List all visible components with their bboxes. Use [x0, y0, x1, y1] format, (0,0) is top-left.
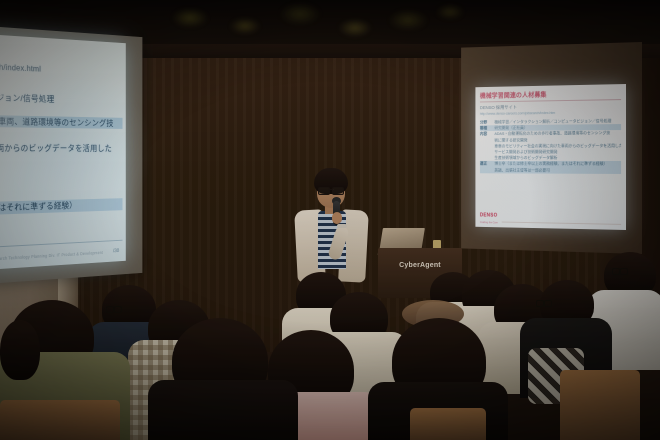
audience-head: [0, 320, 40, 380]
right-slide-table: 分野 機械学習／インタラクション解析／コンピュータビジョン／信号処理 職種 研究…: [480, 118, 621, 174]
right-slide-url: http://www.denso-careers.com/jobsearch/i…: [480, 110, 621, 116]
right-slide-footer: DENSO Crafting the Core: [480, 204, 621, 227]
table-row: 英語、出張社主導等は一部必要可: [480, 167, 621, 174]
presenter-hand: [332, 212, 342, 224]
chair-back: [410, 408, 486, 440]
left-slide-page-number: /38: [113, 248, 119, 254]
wristwatch-icon: [337, 224, 347, 228]
row-value: 英語、出張社主導等は一部必要可: [494, 167, 621, 174]
footer-rule: [501, 222, 621, 225]
denso-tagline: Crafting the Core: [480, 221, 498, 224]
glasses-icon: [317, 187, 345, 193]
left-projection-screen: arch/index.html ビジョン/信号処理 や車両、道路環境等のセンシン…: [0, 34, 126, 270]
glasses-icon: [536, 300, 552, 305]
denso-logo: DENSO: [480, 213, 497, 219]
conference-photo-scene: arch/index.html ビジョン/信号処理 や車両、道路環境等のセンシン…: [0, 0, 660, 440]
glasses-icon: [612, 268, 628, 273]
audience-body: [148, 380, 298, 440]
left-slide-line-experience: たはそれに準ずる経験）: [0, 198, 123, 214]
chair-back: [0, 400, 120, 440]
left-slide-line-bigdata: 車両からのビッグデータを活用した: [0, 143, 123, 154]
right-slide-title-rule: [480, 99, 621, 102]
row-key: 内容: [480, 131, 492, 137]
glasses-icon: [106, 306, 122, 311]
right-projection-screen: 機械学習関連の人材募集 DENSO 採用サイト http://www.denso…: [475, 84, 626, 230]
right-slide-title: 機械学習関連の人材募集: [480, 88, 621, 99]
chair-back: [560, 370, 640, 440]
row-key: 適正: [480, 161, 492, 167]
cyberagent-logo: CyberAgent: [390, 262, 450, 269]
